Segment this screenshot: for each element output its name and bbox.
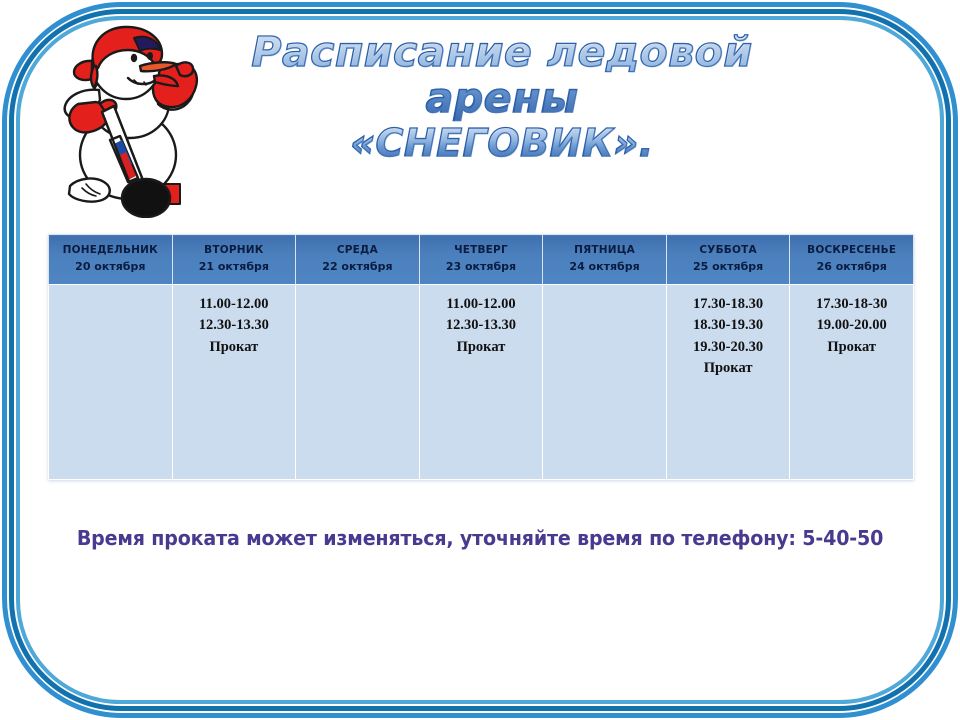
time-slot: 19.00-20.00 (794, 315, 909, 336)
column-header-wednesday: СРЕДА 22 октября (296, 235, 420, 285)
column-header-thursday: ЧЕТВЕРГ 23 октября (419, 235, 543, 285)
rental-label: Прокат (671, 358, 786, 379)
schedule-body-row: 11.00-12.0012.30-13.30Прокат 11.00-12.00… (49, 285, 914, 480)
day-date: 20 октября (51, 260, 170, 275)
poster-title: Расписание ледовой арены «СНЕГОВИК». (222, 30, 782, 164)
poster-page: Расписание ледовой арены «СНЕГОВИК». ПОН… (0, 0, 960, 720)
day-name: СРЕДА (298, 244, 417, 258)
time-slot: 11.00-12.00 (424, 294, 539, 315)
schedule-cell-sunday: 17.30-18-3019.00-20.00Прокат (790, 285, 914, 480)
column-header-monday: ПОНЕДЕЛЬНИК 20 октября (49, 235, 173, 285)
day-name: СУББОТА (669, 244, 788, 258)
day-date: 24 октября (545, 260, 664, 275)
schedule-cell-monday (49, 285, 173, 480)
schedule-cell-wednesday (296, 285, 420, 480)
day-date: 26 октября (792, 260, 911, 275)
day-date: 21 октября (175, 260, 294, 275)
column-header-sunday: ВОСКРЕСЕНЬЕ 26 октября (790, 235, 914, 285)
day-date: 22 октября (298, 260, 417, 275)
poster-title-line-1: Расписание ледовой арены (222, 30, 782, 122)
rental-label: Прокат (794, 337, 909, 358)
snowman-mascot-illustration (42, 18, 227, 218)
time-slot: 17.30-18-30 (794, 294, 909, 315)
time-slot: 12.30-13.30 (177, 315, 292, 336)
rental-label: Прокат (177, 337, 292, 358)
poster-title-line-2: «СНЕГОВИК». (222, 122, 782, 165)
column-header-friday: ПЯТНИЦА 24 октября (543, 235, 667, 285)
day-name: ПОНЕДЕЛЬНИК (51, 244, 170, 258)
column-header-tuesday: ВТОРНИК 21 октября (172, 235, 296, 285)
day-name: ПЯТНИЦА (545, 244, 664, 258)
schedule-table: ПОНЕДЕЛЬНИК 20 октября ВТОРНИК 21 октябр… (48, 234, 914, 480)
schedule-cell-thursday: 11.00-12.0012.30-13.30Прокат (419, 285, 543, 480)
schedule-cell-tuesday: 11.00-12.0012.30-13.30Прокат (172, 285, 296, 480)
day-name: ВОСКРЕСЕНЬЕ (792, 244, 911, 258)
rental-label: Прокат (424, 337, 539, 358)
schedule-table-container: ПОНЕДЕЛЬНИК 20 октября ВТОРНИК 21 октябр… (48, 234, 914, 480)
day-name: ЧЕТВЕРГ (422, 244, 541, 258)
time-slot: 19.30-20.30 (671, 337, 786, 358)
rental-time-notice: Время проката может изменяться, уточняйт… (34, 526, 927, 550)
time-slot: 17.30-18.30 (671, 294, 786, 315)
time-slot: 18.30-19.30 (671, 315, 786, 336)
time-slot: 12.30-13.30 (424, 315, 539, 336)
column-header-saturday: СУББОТА 25 октября (666, 235, 790, 285)
day-date: 23 октября (422, 260, 541, 275)
time-slot: 11.00-12.00 (177, 294, 292, 315)
day-date: 25 октября (669, 260, 788, 275)
schedule-cell-friday (543, 285, 667, 480)
day-name: ВТОРНИК (175, 244, 294, 258)
schedule-header-row: ПОНЕДЕЛЬНИК 20 октября ВТОРНИК 21 октябр… (49, 235, 914, 285)
schedule-cell-saturday: 17.30-18.3018.30-19.3019.30-20.30Прокат (666, 285, 790, 480)
